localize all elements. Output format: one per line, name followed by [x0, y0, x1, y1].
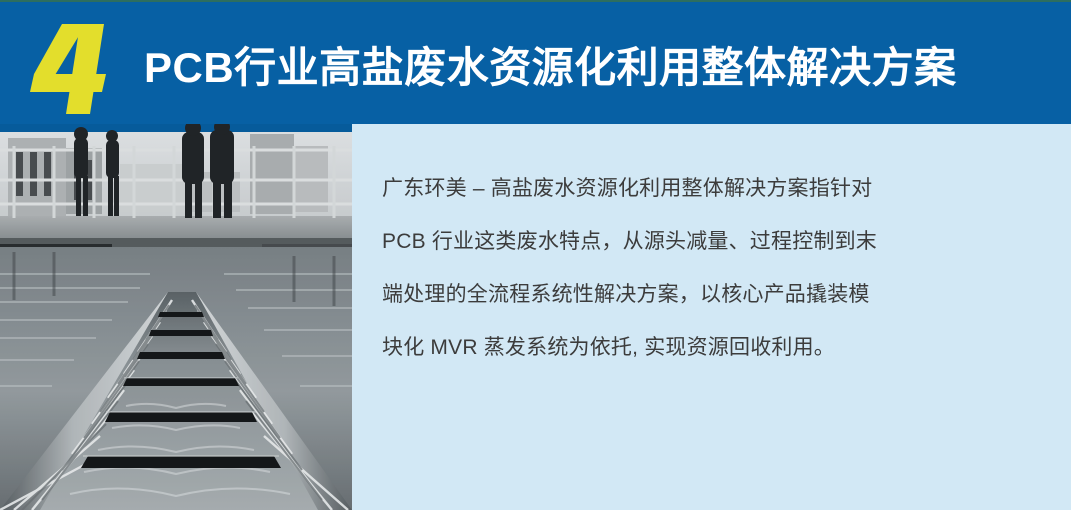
description-line: 端处理的全流程系统性解决方案，以核心产品撬装模 — [382, 268, 1022, 321]
slide-root: PCB行业高盐废水资源化利用整体解决方案 — [0, 0, 1071, 510]
section-number-badge — [28, 18, 124, 114]
description-text: 广东环美 – 高盐废水资源化利用整体解决方案指针对 PCB 行业这类废水特点，从… — [382, 162, 1022, 374]
numeral-four-icon — [28, 18, 124, 114]
description-line: PCB 行业这类废水特点，从源头减量、过程控制到末 — [382, 215, 1022, 268]
description-panel: 广东环美 – 高盐废水资源化利用整体解决方案指针对 PCB 行业这类废水特点，从… — [352, 124, 1071, 510]
description-line: 广东环美 – 高盐废水资源化利用整体解决方案指针对 — [382, 162, 1022, 215]
section-header-bar: PCB行业高盐废水资源化利用整体解决方案 — [0, 0, 1071, 124]
hero-photo — [0, 124, 352, 510]
wastewater-treatment-photo-illustration — [0, 124, 352, 510]
description-line: 块化 MVR 蒸发系统为依托, 实现资源回收利用。 — [382, 321, 1022, 374]
page-title: PCB行业高盐废水资源化利用整体解决方案 — [144, 38, 1054, 98]
